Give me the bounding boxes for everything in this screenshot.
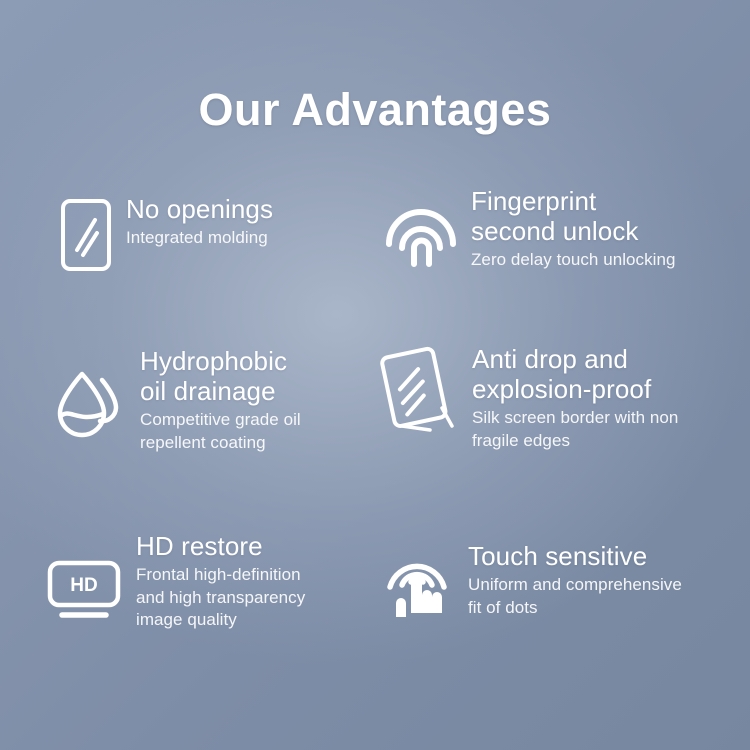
- feature-title: Hydrophobic oil drainage: [140, 346, 361, 406]
- touch-hand-icon: [382, 545, 454, 619]
- tilted-screen-drop-icon: [380, 346, 458, 432]
- feature-subtitle: Silk screen border with non fragile edge…: [472, 407, 725, 452]
- feature-text: Anti drop and explosion-proof Silk scree…: [472, 344, 725, 452]
- feature-fingerprint-second-unlock: Fingerprint second unlock Zero delay tou…: [385, 186, 725, 272]
- feature-title: No openings: [126, 194, 360, 224]
- feature-subtitle: Integrated molding: [126, 227, 360, 249]
- feature-title: HD restore: [136, 531, 361, 561]
- feature-text: No openings Integrated molding: [126, 194, 360, 250]
- advantages-poster: Our Advantages No openings Integrated mo…: [0, 0, 750, 750]
- page-title: Our Advantages: [0, 86, 750, 133]
- feature-title: Fingerprint second unlock: [471, 186, 725, 246]
- feature-text: Touch sensitive Uniform and comprehensiv…: [468, 541, 727, 619]
- fingerprint-icon: [385, 192, 457, 268]
- water-droplets-icon: [56, 368, 126, 440]
- feature-hd-restore: HD HD restore Frontal high-definition an…: [46, 531, 361, 631]
- feature-text: HD restore Frontal high-definition and h…: [136, 531, 361, 631]
- feature-anti-drop-explosion-proof: Anti drop and explosion-proof Silk scree…: [380, 344, 725, 452]
- feature-title: Anti drop and explosion-proof: [472, 344, 725, 404]
- feature-touch-sensitive: Touch sensitive Uniform and comprehensiv…: [382, 541, 727, 619]
- feature-text: Fingerprint second unlock Zero delay tou…: [471, 186, 725, 272]
- feature-hydrophobic-oil-drainage: Hydrophobic oil drainage Competitive gra…: [56, 346, 361, 454]
- feature-no-openings: No openings Integrated molding: [60, 194, 360, 272]
- feature-title: Touch sensitive: [468, 541, 727, 571]
- feature-text: Hydrophobic oil drainage Competitive gra…: [140, 346, 361, 454]
- feature-subtitle: Frontal high-definition and high transpa…: [136, 564, 361, 631]
- feature-subtitle: Uniform and comprehensive fit of dots: [468, 574, 727, 619]
- feature-subtitle: Zero delay touch unlocking: [471, 249, 725, 271]
- features-grid: No openings Integrated molding Fingerpri…: [0, 186, 750, 706]
- feature-subtitle: Competitive grade oil repellent coating: [140, 409, 361, 454]
- screen-no-openings-icon: [60, 198, 112, 272]
- hd-monitor-icon: HD: [46, 559, 122, 621]
- hd-icon-label: HD: [70, 575, 97, 596]
